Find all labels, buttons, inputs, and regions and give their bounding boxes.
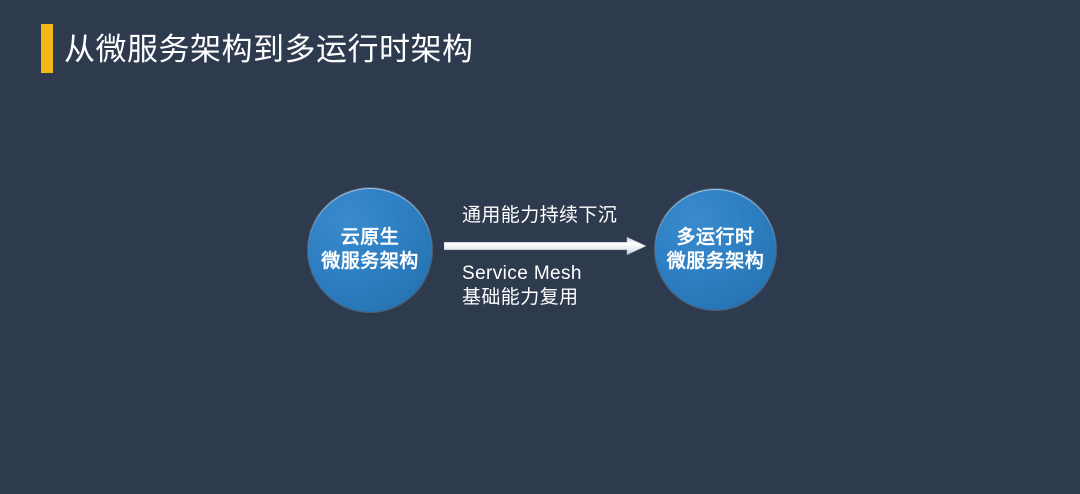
arrow-label-above: 通用能力持续下沉 [462,206,617,225]
diagram-node-target-line2: 微服务架构 [667,250,765,274]
diagram-node-target[interactable]: 多运行时 微服务架构 [655,189,776,310]
diagram-node-source-line1: 云原生 [341,226,400,250]
diagram-node-target-line1: 多运行时 [676,226,754,250]
slide-canvas: 从微服务架构到多运行时架构 云原生 微服务架构 通用能力持续下沉 Service… [0,0,1080,494]
diagram-node-source[interactable]: 云原生 微服务架构 [308,188,432,312]
arrow-label-below-line1: Service Mesh [462,262,582,286]
architecture-flow-diagram: 云原生 微服务架构 通用能力持续下沉 Service Mesh 基础能力复用 多… [0,0,1080,494]
arrow-label-below-line2: 基础能力复用 [462,286,582,310]
right-arrow-icon [444,236,646,256]
arrow-label-below: Service Mesh 基础能力复用 [462,262,582,311]
diagram-node-source-line2: 微服务架构 [321,250,419,274]
